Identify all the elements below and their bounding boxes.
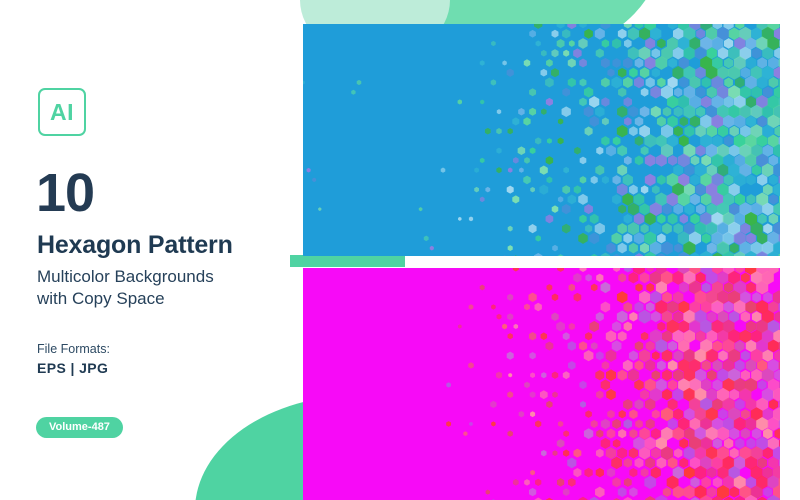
- subtitle-line-2: with Copy Space: [37, 289, 165, 308]
- magenta-hexagon-pattern: [303, 268, 780, 500]
- info-panel: AI 10 Hexagon Pattern Multicolor Backgro…: [0, 0, 300, 500]
- magenta-hexagon-preview: [303, 268, 780, 500]
- decor-green-bar: [290, 255, 405, 267]
- adobe-illustrator-icon: AI: [38, 88, 86, 136]
- subtitle-line-1: Multicolor Backgrounds: [37, 267, 214, 286]
- poster-canvas: AI 10 Hexagon Pattern Multicolor Backgro…: [0, 0, 800, 500]
- file-formats-label: File Formats:: [37, 342, 110, 356]
- ai-badge-label: AI: [50, 101, 74, 124]
- item-count: 10: [36, 166, 94, 220]
- blue-hexagon-preview: [303, 24, 780, 256]
- blue-hexagon-pattern: [303, 24, 780, 256]
- page-subtitle: Multicolor Backgroundswith Copy Space: [37, 266, 287, 310]
- file-formats-value: EPS | JPG: [37, 360, 108, 376]
- volume-badge: Volume-487: [36, 417, 123, 438]
- page-title: Hexagon Pattern: [37, 233, 233, 258]
